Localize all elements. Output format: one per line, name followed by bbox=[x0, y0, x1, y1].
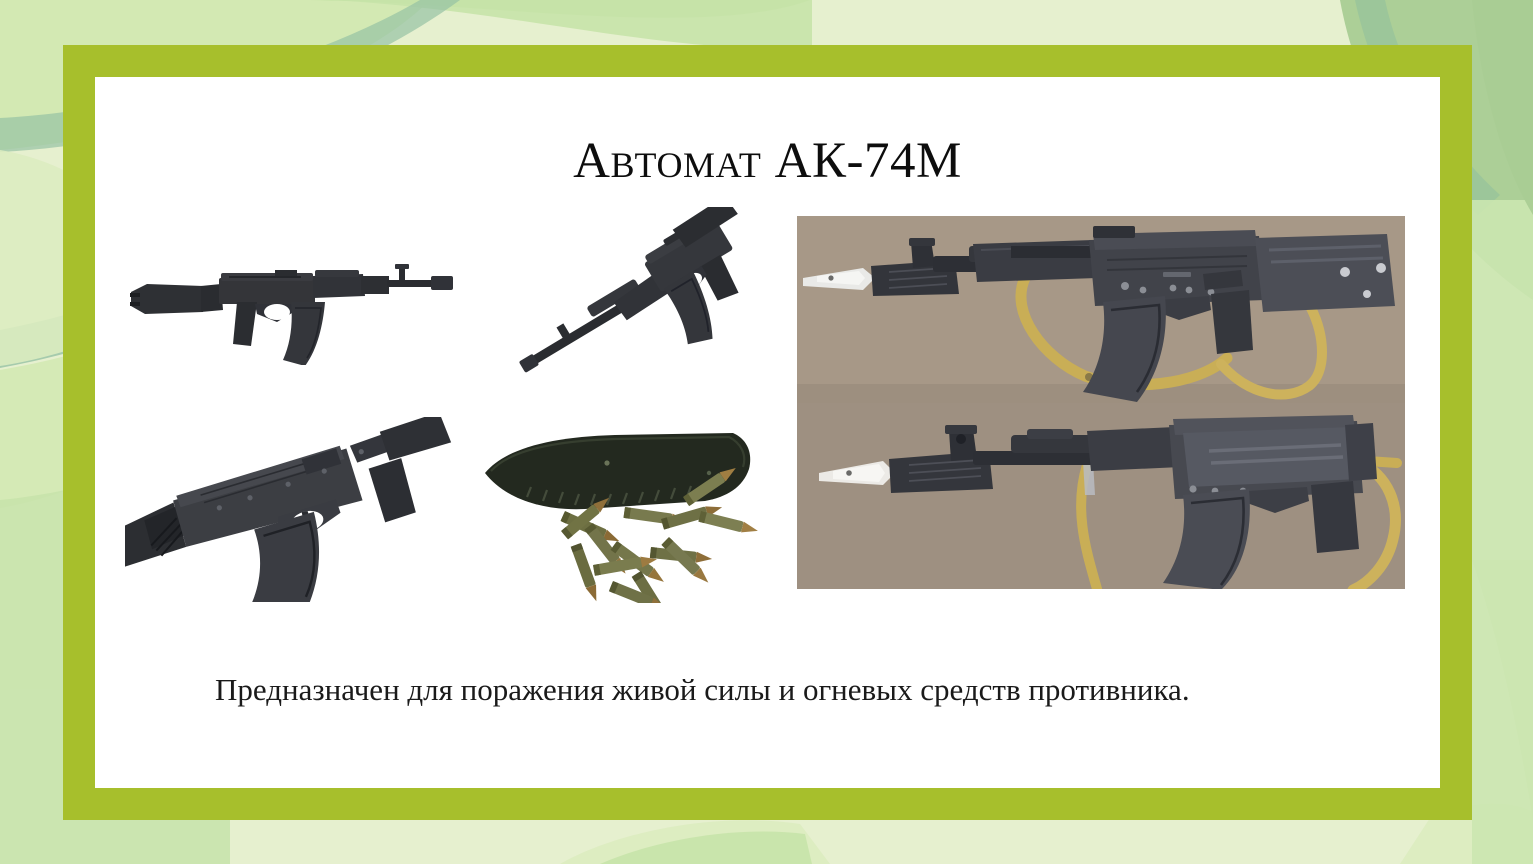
image-photo-rifle-with-bayonet-stock-open bbox=[797, 216, 1405, 403]
decor-leaf-bottom-mid2 bbox=[600, 832, 812, 864]
image-magazine-and-cartridges bbox=[465, 415, 785, 603]
image-rifle-side-view bbox=[125, 240, 470, 365]
body-text: Предназначен для поражения живой силы и … bbox=[215, 667, 1325, 714]
slide-frame-border: Автомат АК-74М bbox=[63, 45, 1472, 820]
decor-leaf-right-top bbox=[1472, 0, 1533, 215]
decor-leaf-right-lower bbox=[1472, 560, 1533, 820]
image-photo-pair bbox=[797, 216, 1405, 589]
decor-leaf-right-band bbox=[1472, 200, 1533, 864]
image-rifle-receiver-detail bbox=[125, 417, 470, 602]
slide-canvas: Автомат АК-74М bbox=[95, 77, 1440, 788]
image-photo-rifle-with-bayonet-stock-folded bbox=[797, 403, 1405, 590]
decor-leaf-top-band bbox=[330, 0, 812, 48]
decor-leaf-top-mid bbox=[300, 0, 810, 18]
slide-root: Автомат АК-74М bbox=[0, 0, 1533, 864]
image-rifle-angled-view bbox=[493, 207, 778, 392]
decor-leaf-bottom-mid bbox=[560, 820, 830, 864]
